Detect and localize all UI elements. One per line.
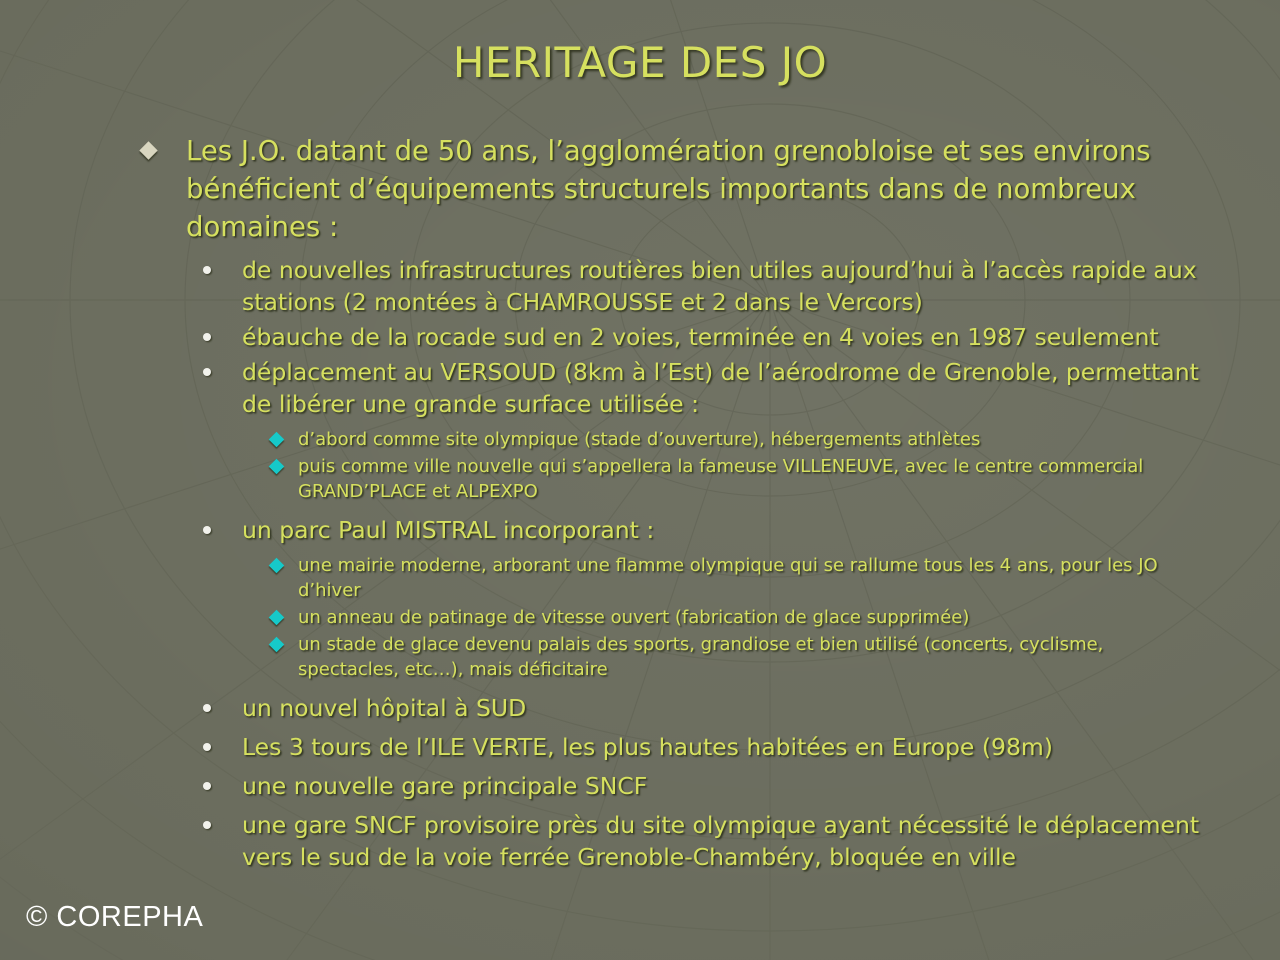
bullet-level2: déplacement au VERSOUD (8km à l’Est) de … <box>0 356 1280 420</box>
presentation-slide: HERITAGE DES JO Les J.O. datant de 50 an… <box>0 0 1280 960</box>
diamond-bullet-cyan-icon <box>269 459 285 475</box>
bullet-level2: une gare SNCF provisoire près du site ol… <box>0 809 1280 873</box>
bullet-text: une gare SNCF provisoire près du site ol… <box>242 809 1210 873</box>
dot-bullet-icon <box>203 743 211 751</box>
dot-bullet-icon <box>203 704 211 712</box>
bullet-text: déplacement au VERSOUD (8km à l’Est) de … <box>242 356 1210 420</box>
diamond-bullet-cyan-icon <box>269 610 285 626</box>
bullet-level2: Les 3 tours de l’ILE VERTE, les plus hau… <box>0 731 1280 763</box>
bullet-text: ébauche de la rocade sud en 2 voies, ter… <box>242 321 1210 353</box>
diamond-bullet-cyan-icon <box>269 637 285 653</box>
bullet-level2: une nouvelle gare principale SNCF <box>0 770 1280 802</box>
bullet-text: une mairie moderne, arborant une flamme … <box>298 553 1210 603</box>
diamond-bullet-cyan-icon <box>269 432 285 448</box>
bullet-level2: de nouvelles infrastructures routières b… <box>0 254 1280 318</box>
bullet-level1: Les J.O. datant de 50 ans, l’agglomérati… <box>0 132 1280 246</box>
bullet-text: un anneau de patinage de vitesse ouvert … <box>298 605 1210 630</box>
slide-title: HERITAGE DES JO <box>0 38 1280 88</box>
slide-body: Les J.O. datant de 50 ans, l’agglomérati… <box>0 132 1280 876</box>
bullet-level3: puis comme ville nouvelle qui s’appeller… <box>0 454 1280 504</box>
dot-bullet-icon <box>203 526 211 534</box>
bullet-text: Les J.O. datant de 50 ans, l’agglomérati… <box>186 132 1180 246</box>
bullet-text: un parc Paul MISTRAL incorporant : <box>242 514 1210 546</box>
spacer <box>0 684 1280 692</box>
dot-bullet-icon <box>203 782 211 790</box>
bullet-level2: un nouvel hôpital à SUD <box>0 692 1280 724</box>
bullet-text: Les 3 tours de l’ILE VERTE, les plus hau… <box>242 731 1210 763</box>
dot-bullet-icon <box>203 266 211 274</box>
bullet-text: une nouvelle gare principale SNCF <box>242 770 1210 802</box>
dot-bullet-icon <box>203 821 211 829</box>
bullet-level3: un stade de glace devenu palais des spor… <box>0 632 1280 682</box>
bullet-text: un stade de glace devenu palais des spor… <box>298 632 1210 682</box>
bullet-level2: un parc Paul MISTRAL incorporant : <box>0 514 1280 546</box>
diamond-bullet-icon <box>139 141 157 159</box>
bullet-level2: ébauche de la rocade sud en 2 voies, ter… <box>0 321 1280 353</box>
bullet-text: d’abord comme site olympique (stade d’ou… <box>298 427 1210 452</box>
copyright-watermark: © COREPHA <box>26 900 203 934</box>
spacer <box>0 506 1280 514</box>
bullet-level3: une mairie moderne, arborant une flamme … <box>0 553 1280 603</box>
bullet-text: de nouvelles infrastructures routières b… <box>242 254 1210 318</box>
dot-bullet-icon <box>203 333 211 341</box>
bullet-level3: d’abord comme site olympique (stade d’ou… <box>0 427 1280 452</box>
bullet-text: un nouvel hôpital à SUD <box>242 692 1210 724</box>
bullet-level3: un anneau de patinage de vitesse ouvert … <box>0 605 1280 630</box>
diamond-bullet-cyan-icon <box>269 558 285 574</box>
bullet-text: puis comme ville nouvelle qui s’appeller… <box>298 454 1210 504</box>
dot-bullet-icon <box>203 368 211 376</box>
